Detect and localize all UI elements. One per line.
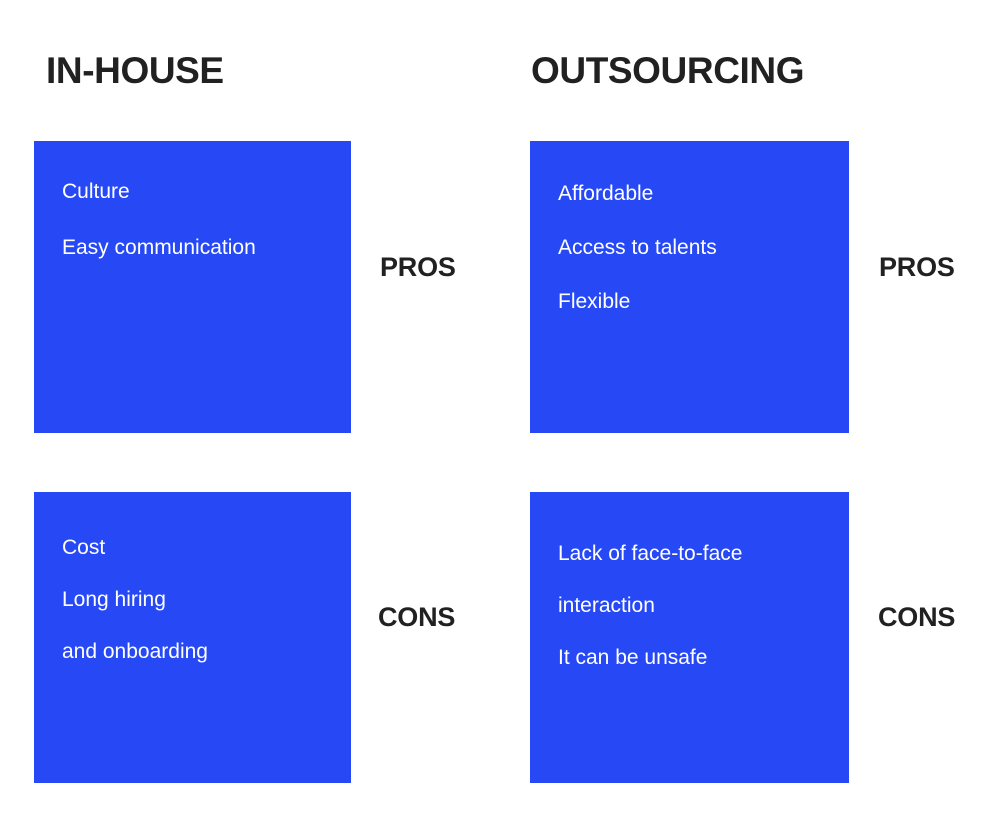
panel-in-house-pros: Culture Easy communication (34, 141, 351, 433)
comparison-infographic: IN-HOUSE OUTSOURCING Culture Easy commun… (0, 0, 1006, 840)
list-item: Lack of face-to-face (558, 543, 823, 564)
column-title-outsourcing: OUTSOURCING (531, 52, 804, 89)
list-item: Access to talents (558, 237, 823, 258)
list-item: and onboarding (62, 641, 325, 662)
outsourcing-cons-list: Lack of face-to-face interaction It can … (558, 543, 823, 668)
outsourcing-pros-list: Affordable Access to talents Flexible (558, 183, 823, 312)
list-item: Culture (62, 181, 325, 202)
list-item: Cost (62, 537, 325, 558)
list-item: Long hiring (62, 589, 325, 610)
row-label-pros-in-house: PROS (380, 254, 456, 281)
list-item: Easy communication (62, 237, 325, 258)
list-item: It can be unsafe (558, 647, 823, 668)
row-label-cons-outsourcing: CONS (878, 604, 955, 631)
column-title-in-house: IN-HOUSE (46, 52, 224, 89)
list-item: Flexible (558, 291, 823, 312)
row-label-cons-in-house: CONS (378, 604, 455, 631)
panel-outsourcing-cons: Lack of face-to-face interaction It can … (530, 492, 849, 783)
list-item: interaction (558, 595, 823, 616)
panel-in-house-cons: Cost Long hiring and onboarding (34, 492, 351, 783)
panel-outsourcing-pros: Affordable Access to talents Flexible (530, 141, 849, 433)
row-label-pros-outsourcing: PROS (879, 254, 955, 281)
list-item: Affordable (558, 183, 823, 204)
in-house-pros-list: Culture Easy communication (62, 181, 325, 258)
in-house-cons-list: Cost Long hiring and onboarding (62, 537, 325, 662)
